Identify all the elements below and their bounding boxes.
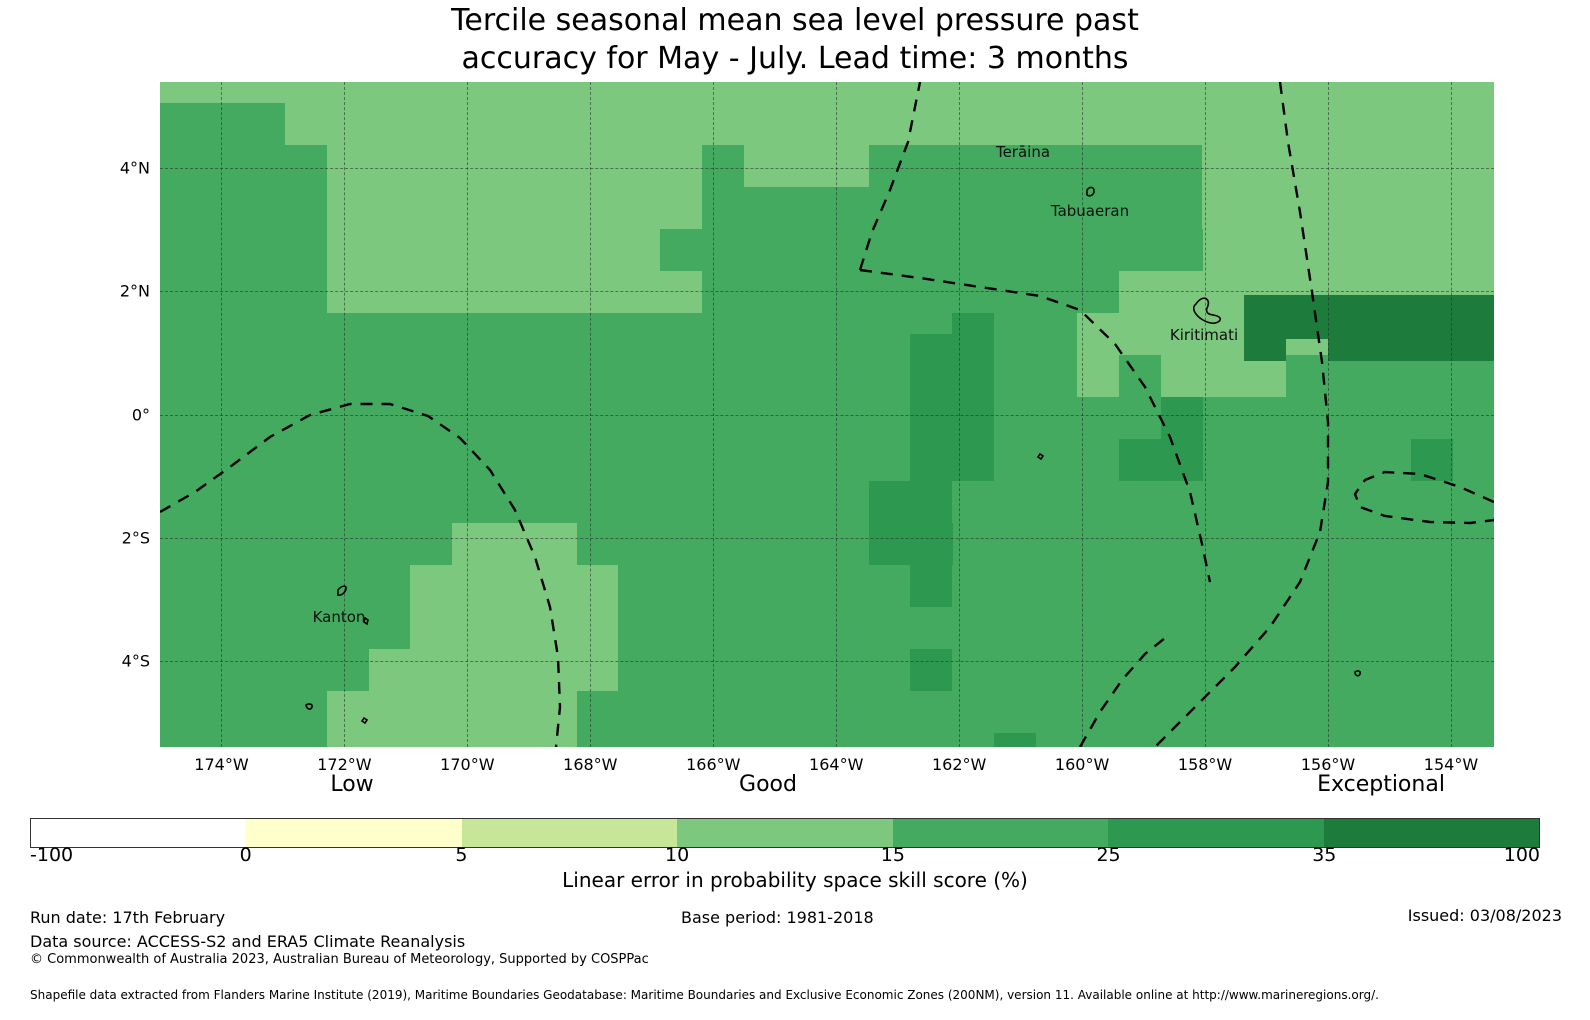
issued-date-text: Issued: 03/08/2023 [1408, 906, 1562, 925]
heatmap-patch [1203, 229, 1494, 271]
heatmap-patch [1077, 313, 1119, 355]
heatmap-patch [160, 187, 327, 229]
heatmap-patch [952, 313, 994, 397]
heatmap-patch [369, 271, 702, 313]
heatmap-patch [994, 733, 1036, 747]
heatmap-patch [160, 271, 327, 313]
quality-label: Low [330, 772, 373, 797]
y-axis-tick-label: 4°N [120, 159, 150, 178]
colorbar-tick-label: -100 [30, 844, 73, 866]
colorbar-segment [462, 819, 677, 847]
heatmap-patch [744, 145, 869, 187]
heatmap-patch [160, 313, 702, 355]
copyright-text: © Commonwealth of Australia 2023, Austra… [30, 952, 649, 967]
page-title: Tercile seasonal mean sea level pressure… [0, 2, 1590, 78]
heatmap-patch [1286, 355, 1328, 397]
x-axis-tick-label: 166°W [686, 755, 740, 774]
heatmap-patch [869, 271, 1119, 313]
heatmap-patch [1411, 439, 1453, 481]
data-source-text: Data source: ACCESS-S2 and ERA5 Climate … [30, 932, 465, 951]
heatmap-patch [202, 229, 327, 271]
colorbar-segment [246, 819, 461, 847]
heatmap-patch [410, 607, 618, 649]
heatmap-cells [160, 82, 1494, 747]
x-axis-tick-label: 160°W [1055, 755, 1109, 774]
heatmap-patch [327, 187, 702, 229]
heatmap-patch [910, 649, 952, 691]
heatmap-patch [1119, 355, 1161, 397]
x-axis-tick-label: 158°W [1178, 755, 1232, 774]
y-axis-tick-label: 4°S [122, 651, 150, 670]
heatmap-patch [1244, 339, 1286, 361]
colorbar-tick-label: 25 [1096, 844, 1120, 866]
heatmap-patch [1161, 397, 1203, 439]
heatmap-patch [910, 397, 994, 481]
heatmap-patch [660, 229, 702, 271]
island-label-tabuaeran: Tabuaeran [1051, 202, 1129, 220]
heatmap-patch [410, 565, 618, 607]
run-date-text: Run date: 17th February [30, 908, 225, 927]
heatmap-patch [910, 565, 952, 607]
heatmap-patch [327, 691, 577, 747]
x-axis-tick-label: 168°W [563, 755, 617, 774]
colorbar-tick-label: 0 [240, 844, 252, 866]
base-period-text: Base period: 1981-2018 [681, 908, 874, 927]
heatmap-patch [285, 103, 1494, 145]
heatmap-patch [910, 145, 1202, 187]
colorbar-segment [893, 819, 1108, 847]
heatmap-patch [1202, 145, 1494, 187]
y-axis-tick-label: 2°S [122, 528, 150, 547]
heatmap-patch [1161, 229, 1203, 271]
heatmap-patch [1119, 439, 1203, 481]
colorbar-tick-label: 15 [881, 844, 905, 866]
heatmap-patch [160, 103, 243, 145]
colorbar-segment [677, 819, 892, 847]
heatmap-patch [744, 187, 869, 229]
y-axis-tick-label: 2°N [120, 282, 150, 301]
quality-label: Exceptional [1317, 772, 1445, 797]
heatmap-patch [327, 271, 369, 313]
heatmap-patch [702, 187, 744, 229]
heatmap-patch [1328, 355, 1494, 397]
title-line-2: accuracy for May - July. Lead time: 3 mo… [0, 40, 1590, 78]
colorbar-label: Linear error in probability space skill … [0, 868, 1590, 892]
heatmap-patch [160, 229, 202, 271]
heatmap-patch [702, 313, 869, 355]
heatmap-patch [910, 334, 952, 397]
island-label-kanton: Kanton [313, 608, 366, 626]
heatmap-patch [452, 523, 577, 565]
title-line-1: Tercile seasonal mean sea level pressure… [451, 3, 1139, 38]
x-axis-tick-label: 162°W [932, 755, 986, 774]
heatmap-patch [327, 145, 702, 187]
x-axis-tick-label: 174°W [194, 755, 248, 774]
colorbar-segment [1108, 819, 1323, 847]
heatmap-patch [1077, 355, 1119, 397]
heatmap-patch [327, 229, 660, 271]
map-plot-area[interactable]: Terāina Tabuaeran Kiritimati Kanton [160, 82, 1494, 747]
heatmap-patch [369, 649, 618, 691]
heatmap-patch [869, 523, 953, 565]
colorbar-tick-label: 5 [455, 844, 467, 866]
heatmap-patch [285, 145, 327, 187]
island-label-kiritimati: Kiritimati [1170, 326, 1238, 344]
heatmap-patch [1119, 271, 1203, 313]
heatmap-patch [160, 145, 285, 187]
heatmap-patch [869, 229, 1161, 271]
heatmap-patch [1244, 295, 1494, 339]
x-axis-tick-label: 164°W [809, 755, 863, 774]
colorbar-tick-label: 10 [665, 844, 689, 866]
heatmap-patch [243, 103, 285, 145]
heatmap-patch [1161, 355, 1286, 397]
heatmap-patch [243, 82, 1494, 103]
colorbar-tick-label: 100 [1504, 844, 1540, 866]
quality-label: Good [739, 772, 797, 797]
heatmap-patch [1202, 187, 1494, 229]
colorbar-tick-label: 35 [1312, 844, 1336, 866]
x-axis-tick-label: 170°W [440, 755, 494, 774]
colorbar-segment [1324, 819, 1539, 847]
colorbar-segment [31, 819, 246, 847]
y-axis-tick-label: 0° [132, 405, 150, 424]
island-label-teraina: Terāina [996, 143, 1050, 161]
heatmap-patch [702, 145, 744, 187]
heatmap-patch [869, 187, 1202, 229]
heatmap-patch [869, 145, 910, 187]
shapefile-attribution-text: Shapefile data extracted from Flanders M… [30, 988, 1379, 1002]
heatmap-patch [702, 229, 869, 271]
heatmap-patch [702, 271, 869, 313]
heatmap-patch [160, 397, 869, 439]
heatmap-patch [1411, 339, 1494, 361]
